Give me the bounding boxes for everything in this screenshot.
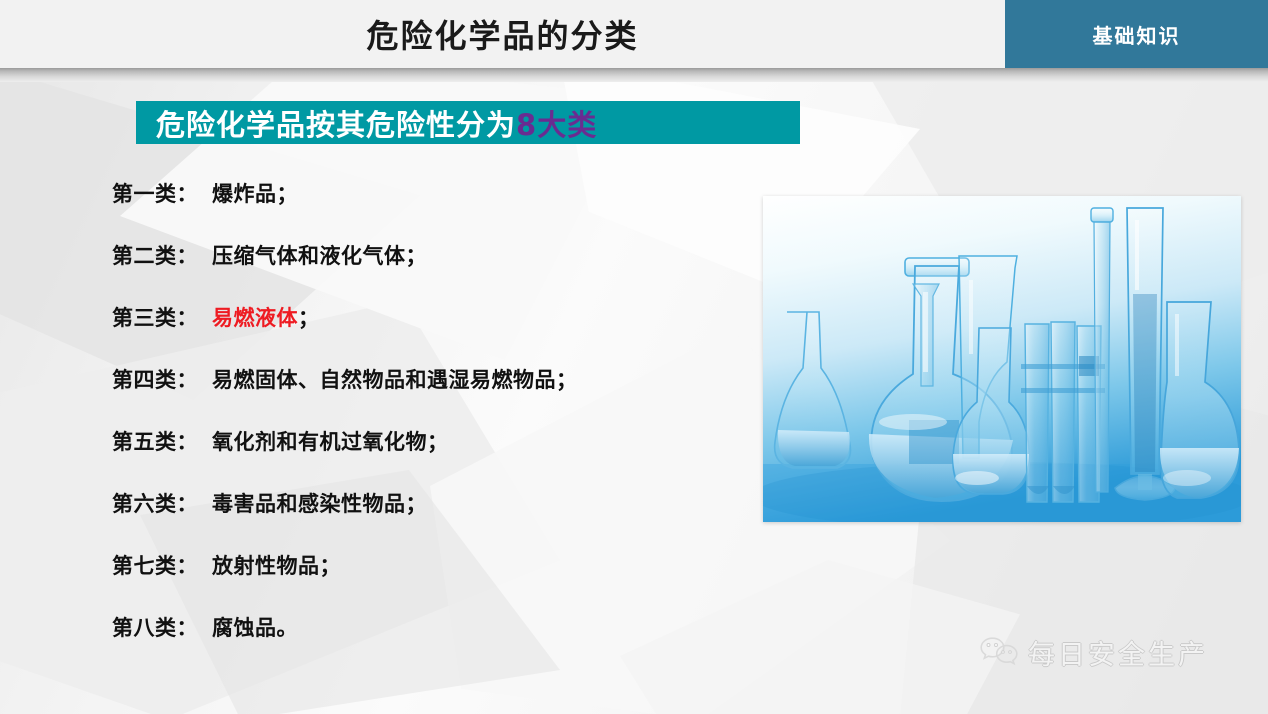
list-item-term: 毒害品和感染性物品 <box>212 488 406 518</box>
subtitle-accent-text: 8大类 <box>516 108 597 142</box>
list-item-label: 第八类： <box>112 612 198 642</box>
list-item-suffix: ； <box>320 550 342 580</box>
list-item-term: 放射性物品 <box>212 550 320 580</box>
list-item: 第六类： 毒害品和感染性物品 ； <box>112 488 752 550</box>
list-item: 第七类： 放射性物品 ； <box>112 550 752 612</box>
slide-header: 危险化学品的分类 基础知识 <box>0 0 1268 68</box>
slide-canvas: 危险化学品的分类 基础知识 危险化学品按其危险性分为8大类 第一类： 爆炸品 ；… <box>0 0 1268 714</box>
list-item-suffix: 。 <box>277 612 299 642</box>
list-item: 第八类： 腐蚀品 。 <box>112 612 752 674</box>
laboratory-glassware-photo <box>763 196 1241 522</box>
list-item: 第一类： 爆炸品 ； <box>112 178 752 240</box>
list-item-term-highlighted: 易燃液体 <box>212 302 298 332</box>
list-item-term: 压缩气体和液化气体 <box>212 240 406 270</box>
list-item-suffix: ； <box>298 302 320 332</box>
wechat-icon <box>978 635 1020 671</box>
classification-list: 第一类： 爆炸品 ； 第二类： 压缩气体和液化气体 ； 第三类： 易燃液体 ； … <box>112 178 752 674</box>
watermark-text: 每日安全生产 <box>1028 633 1208 672</box>
list-item-label: 第一类： <box>112 178 198 208</box>
list-item-suffix: ； <box>427 426 449 456</box>
list-item: 第五类： 氧化剂和有机过氧化物 ； <box>112 426 752 488</box>
list-item-suffix: ； <box>406 240 428 270</box>
list-item-suffix: ； <box>406 488 428 518</box>
section-badge-label: 基础知识 <box>1093 20 1181 49</box>
list-item-suffix: ； <box>556 364 578 394</box>
list-item-suffix: ； <box>277 178 299 208</box>
list-item: 第四类： 易燃固体、自然物品和遇湿易燃物品 ； <box>112 364 752 426</box>
list-item-label: 第六类： <box>112 488 198 518</box>
list-item-term: 腐蚀品 <box>212 612 277 642</box>
subtitle-main-text: 危险化学品按其危险性分为 <box>156 108 516 142</box>
list-item: 第二类： 压缩气体和液化气体 ； <box>112 240 752 302</box>
watermark: 每日安全生产 <box>978 633 1208 672</box>
list-item-label: 第四类： <box>112 364 198 394</box>
list-item-term: 易燃固体、自然物品和遇湿易燃物品 <box>212 364 556 394</box>
subtitle-banner: 危险化学品按其危险性分为8大类 <box>136 101 800 144</box>
list-item-label: 第七类： <box>112 550 198 580</box>
list-item-term: 氧化剂和有机过氧化物 <box>212 426 427 456</box>
subtitle-banner-text: 危险化学品按其危险性分为8大类 <box>136 102 597 144</box>
list-item: 第三类： 易燃液体 ； <box>112 302 752 364</box>
list-item-label: 第二类： <box>112 240 198 270</box>
list-item-label: 第三类： <box>112 302 198 332</box>
list-item-label: 第五类： <box>112 426 198 456</box>
section-badge: 基础知识 <box>1005 0 1268 68</box>
page-title: 危险化学品的分类 <box>0 0 1005 68</box>
list-item-term: 爆炸品 <box>212 178 277 208</box>
header-divider-shadow <box>0 68 1268 82</box>
